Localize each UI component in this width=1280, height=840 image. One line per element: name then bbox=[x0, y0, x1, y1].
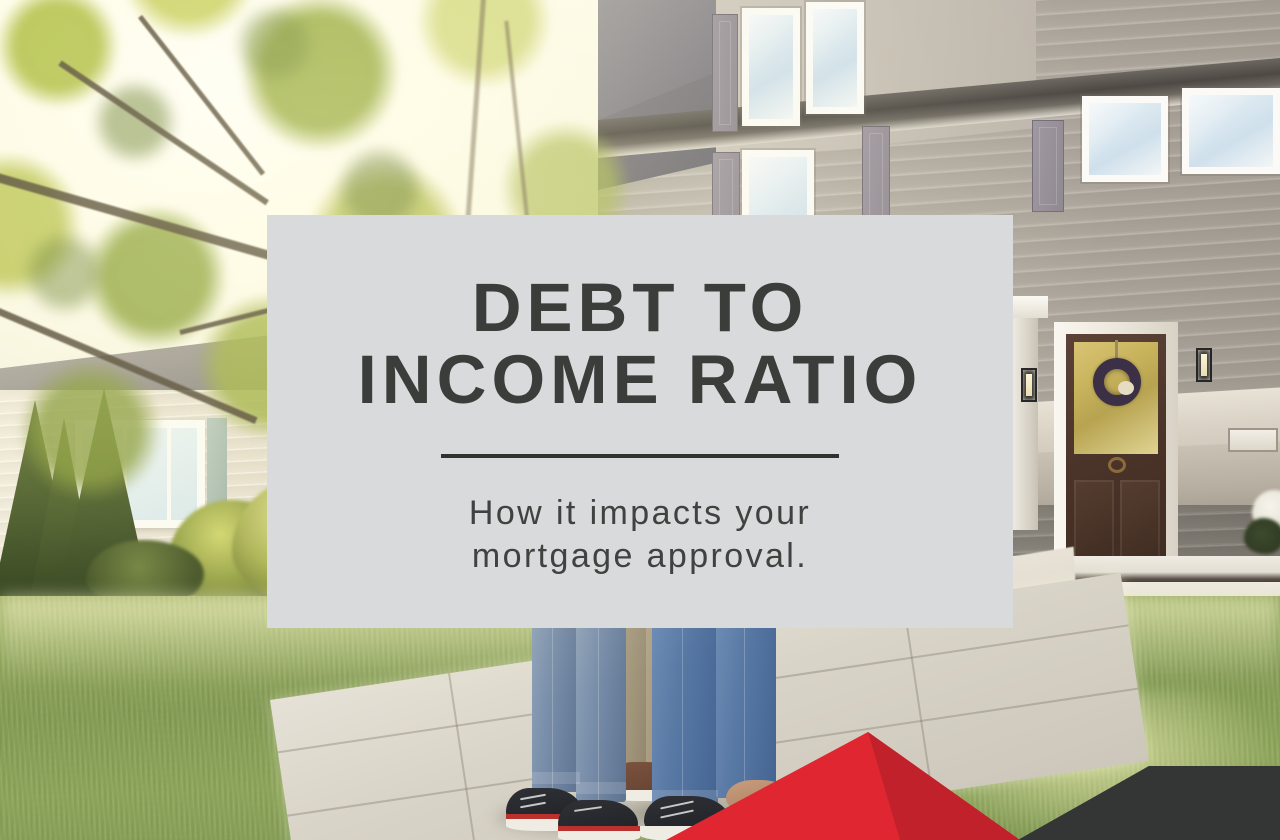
corner-accent-graphics bbox=[0, 0, 1280, 840]
poster-canvas: DEBT TO INCOME RATIO How it impacts your… bbox=[0, 0, 1280, 840]
dark-chevron-body bbox=[1018, 766, 1280, 840]
